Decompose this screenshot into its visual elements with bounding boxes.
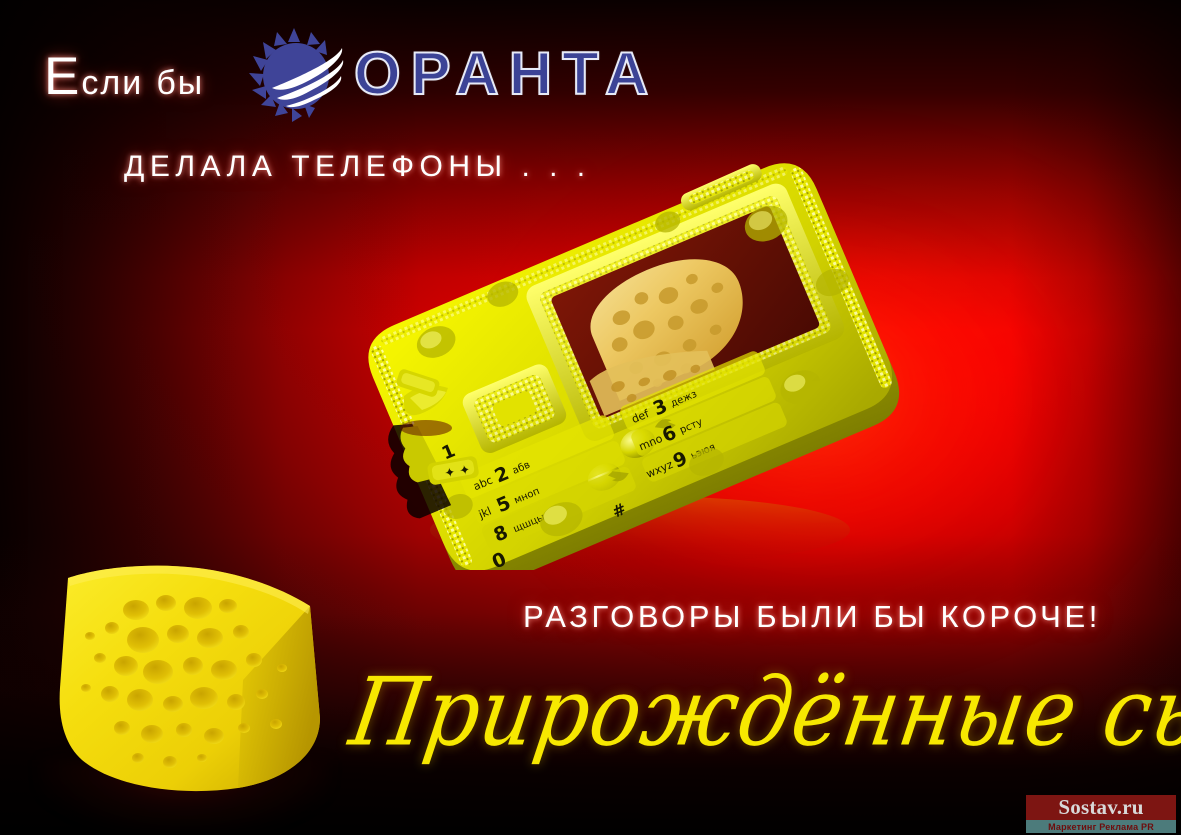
headline-line-2: ДЕЛАЛА ТЕЛЕФОНЫ . . . [124, 150, 591, 184]
headline-rest: сли [81, 64, 143, 102]
headline-cap-letter: Е [44, 47, 81, 106]
headline-tail: бы [156, 64, 204, 102]
cheese-phone-image: abc 2 абв jkl 5 мноп 8 щшцы 0 def 3 дежз… [300, 130, 940, 570]
signature-slogan: Прирождённые сыроделы! [343, 657, 1181, 767]
punchline: РАЗГОВОРЫ БЫЛИ БЫ КОРОЧЕ! [523, 599, 1101, 635]
poster-canvas: abc 2 абв jkl 5 мноп 8 щшцы 0 def 3 дежз… [0, 0, 1181, 835]
headline-line-1: Если бы [44, 46, 204, 107]
watermark-site[interactable]: Sostav.ru [1026, 795, 1176, 820]
cheese-wedge-image [38, 548, 338, 798]
planet-sun-icon [244, 26, 344, 126]
oranta-logo[interactable]: ОРАНТА [244, 26, 544, 126]
sostav-watermark[interactable]: Sostav.ru Маркетинг Реклама PR [1026, 795, 1176, 833]
logo-wordmark: ОРАНТА [354, 39, 658, 108]
watermark-subtitle: Маркетинг Реклама PR [1026, 820, 1176, 833]
